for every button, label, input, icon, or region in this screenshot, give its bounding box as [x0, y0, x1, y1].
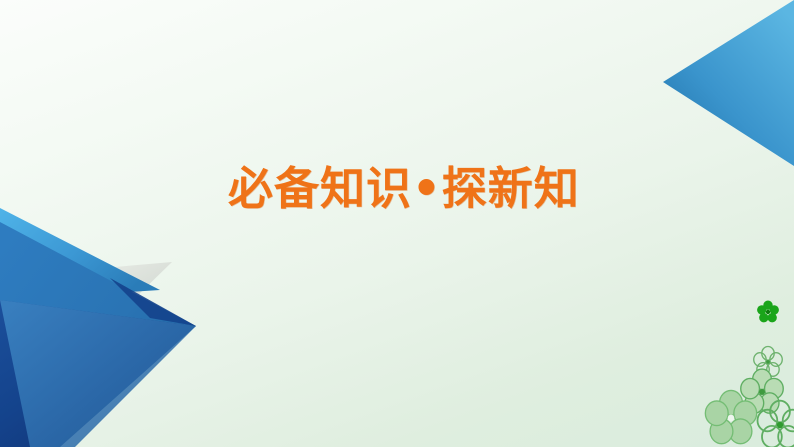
slide-title-block: 必备知识•探新知: [228, 152, 648, 224]
flower-icon-outline-bottom-right: [758, 401, 794, 447]
flower-icon-filled-bottom-left: [705, 390, 756, 443]
page-title: 必备知识•探新知: [228, 166, 580, 211]
flower-icon-solid-small: [757, 301, 779, 323]
slide-canvas: 必备知识•探新知: [0, 0, 794, 447]
flower-icon-outline-mid: [754, 347, 783, 377]
flower-icon-filled-large: [741, 369, 784, 413]
